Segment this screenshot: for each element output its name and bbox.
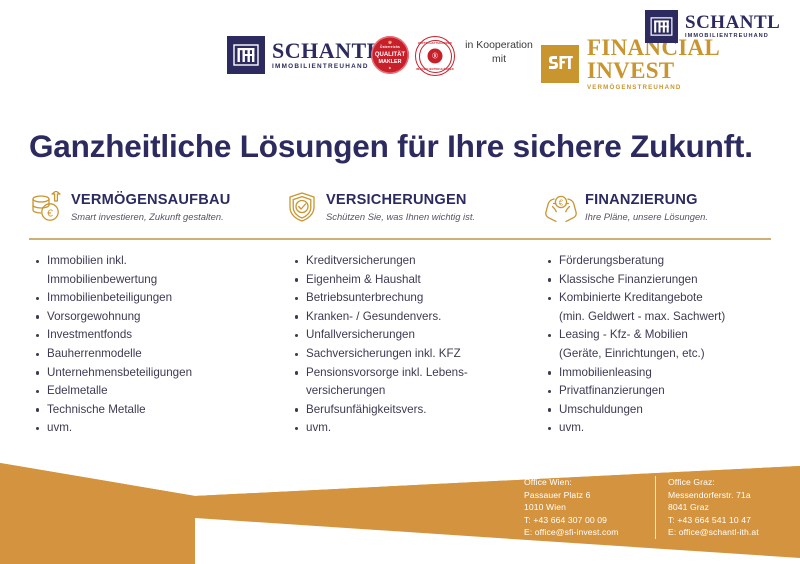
office-line: Office Wien: xyxy=(524,476,655,489)
service-column-finanzierung: € FINANZIERUNG Ihre Pläne, unsere Lösung… xyxy=(531,186,790,228)
list-item: Klassische Finanzierungen xyxy=(545,271,795,290)
list-item: Immobilienbewertung xyxy=(33,271,273,290)
list-item: Leasing - Kfz- & Mobilien xyxy=(545,326,795,345)
list-items: Immobilien inkl.ImmobilienbewertungImmob… xyxy=(33,252,273,438)
list-item: Sachversicherungen inkl. KFZ xyxy=(292,345,538,364)
ith-monogram-corner-icon xyxy=(645,10,678,43)
list-item: Förderungsberatung xyxy=(545,252,795,271)
logo-secondary-subtitle: VERMÖGENSTREUHAND xyxy=(587,85,800,91)
list-item: uvm. xyxy=(33,419,273,438)
logo-corner-name: SCHANTL xyxy=(685,13,780,32)
header-logo-row: SCHANTL IMMOBILIENTREUHAND ♚ Österreichs… xyxy=(0,0,800,100)
list-item: Immobilien inkl. xyxy=(33,252,273,271)
immobilientreuhaender-seal: WIRTSCHAFTSKAMMER ® IMMOBILIENTREUHÄNDER xyxy=(415,36,455,76)
logo-corner-subtitle: IMMOBILIENTREUHAND xyxy=(685,34,780,40)
list-item: Bauherrenmodelle xyxy=(33,345,273,364)
section-divider xyxy=(29,238,771,240)
list-item: Unternehmensbeteiligungen xyxy=(33,364,273,383)
service-columns: € VERMÖGENSAUFBAU Smart investieren, Zuk… xyxy=(29,186,771,228)
list-item: Kombinierte Kreditangebote xyxy=(545,289,795,308)
office-line: 8041 Graz xyxy=(668,501,759,514)
list-item: Pensionsvorsorge inkl. Lebens- xyxy=(292,364,538,383)
list-item: Immobilienbeteiligungen xyxy=(33,289,273,308)
seal-center-icon: ® xyxy=(428,49,443,64)
office-phone: T: +43 664 307 00 09 xyxy=(524,514,655,527)
bullet-list-versicherungen: KreditversicherungenEigenheim & Haushalt… xyxy=(292,252,538,438)
svg-text:€: € xyxy=(559,199,564,208)
list-item: Edelmetalle xyxy=(33,382,273,401)
column-tagline: Schützen Sie, was Ihnen wichtig ist. xyxy=(326,211,475,222)
badge-line4: ★ xyxy=(371,66,409,70)
office-email[interactable]: E: office@schantl-ith.at xyxy=(668,526,759,539)
column-tagline: Smart investieren, Zukunft gestalten. xyxy=(71,211,230,222)
list-item: uvm. xyxy=(545,419,795,438)
seal-bottom-text: IMMOBILIENTREUHÄNDER xyxy=(416,68,454,71)
bullet-list-vermoegensaufbau: Immobilien inkl.ImmobilienbewertungImmob… xyxy=(33,252,273,438)
list-item: Investmentfonds xyxy=(33,326,273,345)
service-column-vermoegensaufbau: € VERMÖGENSAUFBAU Smart investieren, Zuk… xyxy=(29,186,276,228)
list-item: Kranken- / Gesundenvers. xyxy=(292,308,538,327)
list-item: Privatfinanzierungen xyxy=(545,382,795,401)
list-item: versicherungen xyxy=(292,382,538,401)
page-headline: Ganzheitliche Lösungen für Ihre sichere … xyxy=(29,128,753,165)
qualitaets-makler-badge: ♚ Österreichs QUALITÄT MAKLER ★ xyxy=(371,36,409,74)
office-graz: Office Graz: Messendorferstr. 71a 8041 G… xyxy=(655,476,759,539)
list-item: Unfallversicherungen xyxy=(292,326,538,345)
list-item: Vorsorgewohnung xyxy=(33,308,273,327)
list-item: Kreditversicherungen xyxy=(292,252,538,271)
office-line: Passauer Platz 6 xyxy=(524,489,655,502)
logo-sfi-financial-invest: FINANCIAL INVEST VERMÖGENSTREUHAND xyxy=(541,36,800,91)
list-items: FörderungsberatungKlassische Finanzierun… xyxy=(545,252,795,438)
svg-text:€: € xyxy=(47,207,53,219)
column-title: VERMÖGENSAUFBAU xyxy=(71,192,230,208)
list-item: Betriebsunterbrechung xyxy=(292,289,538,308)
column-tagline: Ihre Pläne, unsere Lösungen. xyxy=(585,211,708,222)
list-items: KreditversicherungenEigenheim & Haushalt… xyxy=(292,252,538,438)
office-line: Messendorferstr. 71a xyxy=(668,489,759,502)
logo-ith-schantl-primary: SCHANTL IMMOBILIENTREUHAND xyxy=(227,36,382,74)
list-item: Eigenheim & Haushalt xyxy=(292,271,538,290)
bullet-list-finanzierung: FörderungsberatungKlassische Finanzierun… xyxy=(545,252,795,438)
office-email[interactable]: E: office@sfi-invest.com xyxy=(524,526,655,539)
footer-offices: Office Wien: Passauer Platz 6 1010 Wien … xyxy=(524,476,759,539)
logo-primary-name: SCHANTL xyxy=(272,40,382,62)
logo-ith-schantl-corner: SCHANTL IMMOBILIENTREUHAND xyxy=(645,10,780,43)
office-line: 1010 Wien xyxy=(524,501,655,514)
list-item: Immobilienleasing xyxy=(545,364,795,383)
column-title: VERSICHERUNGEN xyxy=(326,192,475,208)
seal-top-text: WIRTSCHAFTSKAMMER xyxy=(416,42,454,45)
coins-euro-growth-icon: € xyxy=(29,191,65,223)
list-item: Umschuldungen xyxy=(545,401,795,420)
logo-primary-subtitle: IMMOBILIENTREUHAND xyxy=(272,64,382,70)
ith-monogram-icon xyxy=(227,36,265,74)
badge-line1: Österreichs xyxy=(371,45,409,49)
office-phone: T: +43 664 541 10 47 xyxy=(668,514,759,527)
list-item: Technische Metalle xyxy=(33,401,273,420)
cooperation-label: in Kooperation mit xyxy=(464,38,534,66)
badge-line2: QUALITÄT xyxy=(371,52,409,58)
service-column-versicherungen: VERSICHERUNGEN Schützen Sie, was Ihnen w… xyxy=(276,186,531,228)
list-item: (min. Geldwert - max. Sachwert) xyxy=(545,308,795,327)
column-title: FINANZIERUNG xyxy=(585,192,708,208)
office-line: Office Graz: xyxy=(668,476,759,489)
flyer-page: SCHANTL IMMOBILIENTREUHAND ♚ Österreichs… xyxy=(0,0,800,564)
list-item: uvm. xyxy=(292,419,538,438)
list-item: Berufsunfähigkeitsvers. xyxy=(292,401,538,420)
sfi-monogram-icon xyxy=(541,45,579,83)
badge-line3: MAKLER xyxy=(371,59,409,65)
certification-badges: ♚ Österreichs QUALITÄT MAKLER ★ WIRTSCHA… xyxy=(371,36,455,76)
list-item: (Geräte, Einrichtungen, etc.) xyxy=(545,345,795,364)
shield-check-icon xyxy=(284,191,320,223)
hands-holding-coin-icon: € xyxy=(543,192,579,222)
office-wien: Office Wien: Passauer Platz 6 1010 Wien … xyxy=(524,476,655,539)
